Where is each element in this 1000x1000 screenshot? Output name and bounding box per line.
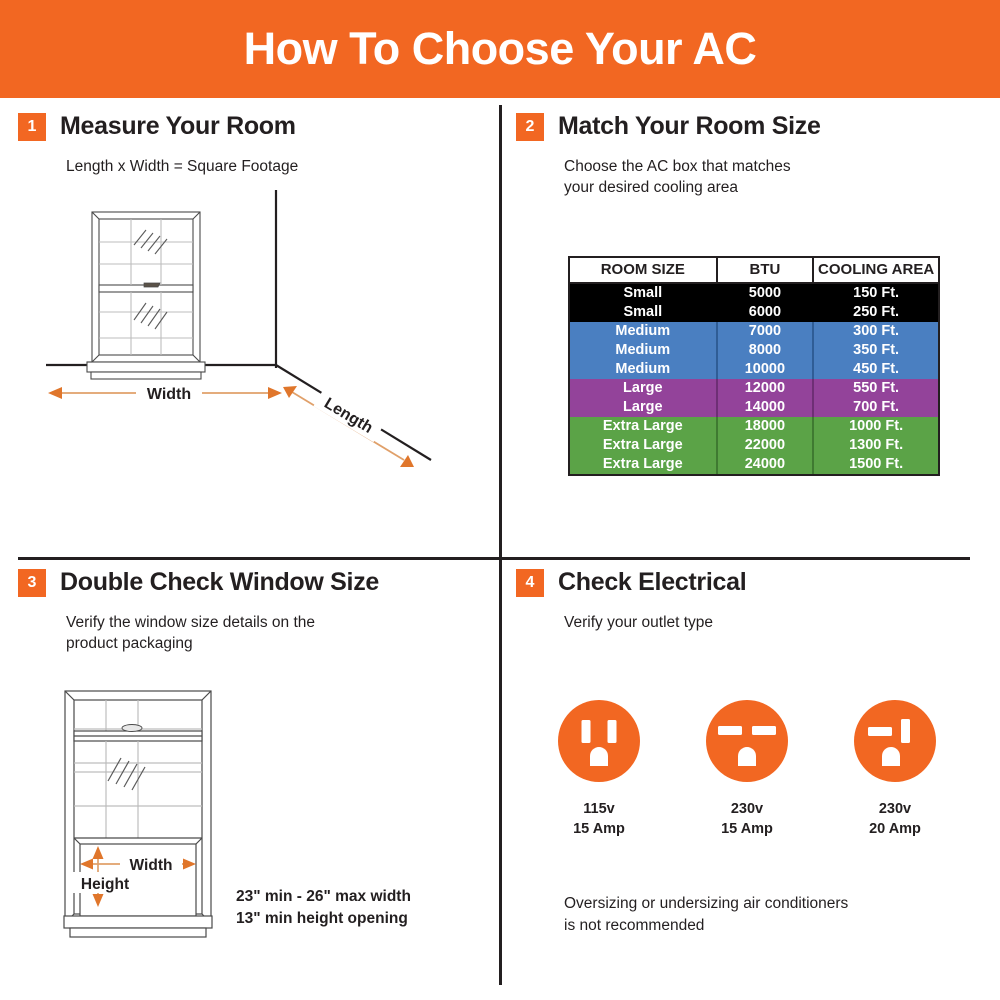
step-title-2: Match Your Room Size <box>558 112 821 141</box>
table-row: Extra Large180001000 Ft. <box>570 417 938 436</box>
window-note-line-1: 23" min - 26" max width <box>236 886 411 908</box>
step-panel-match-your-room-size: 2 Match Your Room Size Choose the AC box… <box>516 112 984 552</box>
step-title-1: Measure Your Room <box>60 112 296 141</box>
width-label-1: Width <box>147 386 191 403</box>
outlet-115v-15amp-icon <box>556 698 642 784</box>
step-3-header: 3 Double Check Window Size <box>18 568 488 597</box>
table-cell-room-size: Medium <box>570 360 717 379</box>
step-number-badge-2: 2 <box>516 113 544 141</box>
outlet-item-230v-20amp: 230v 20 Amp <box>852 698 938 839</box>
window-width-label: Width <box>130 857 173 874</box>
step-panel-double-check-window-size: 3 Double Check Window Size Verify the wi… <box>18 568 488 988</box>
table-row: Small5000150 Ft. <box>570 283 938 303</box>
outlet-label-115v-15amp: 115v 15 Amp <box>573 800 625 839</box>
window-size-note: 23" min - 26" max width 13" min height o… <box>236 886 411 931</box>
table-cell-cooling-area: 350 Ft. <box>813 341 938 360</box>
table-row: Small6000250 Ft. <box>570 303 938 322</box>
step-1-header: 1 Measure Your Room <box>18 112 488 141</box>
window-note-line-2: 13" min height opening <box>236 908 411 930</box>
step-subtitle-3: Verify the window size details on the pr… <box>66 613 488 655</box>
table-body: Small5000150 Ft.Small6000250 Ft.Medium70… <box>570 283 938 474</box>
outlet-type-list: 115v 15 Amp 230v 15 Amp 230v 2 <box>556 698 938 839</box>
step-title-4: Check Electrical <box>558 568 746 597</box>
table-cell-room-size: Medium <box>570 341 717 360</box>
outlet-label-230v-15amp: 230v 15 Amp <box>721 800 773 839</box>
outlet-label-230v-20amp: 230v 20 Amp <box>869 800 921 839</box>
table-row: Medium7000300 Ft. <box>570 322 938 341</box>
ac-sizing-table: ROOM SIZE BTU COOLING AREA Small5000150 … <box>570 258 938 474</box>
window-size-diagram: Width Height <box>58 686 238 948</box>
column-header-room-size: ROOM SIZE <box>570 258 717 283</box>
window-height-label: Height <box>81 876 129 893</box>
table-row: Medium10000450 Ft. <box>570 360 938 379</box>
table-cell-cooling-area: 550 Ft. <box>813 379 938 398</box>
table-cell-cooling-area: 1500 Ft. <box>813 455 938 474</box>
table-cell-btu: 22000 <box>717 436 814 455</box>
step-number-badge-3: 3 <box>18 569 46 597</box>
table-row: Large14000700 Ft. <box>570 398 938 417</box>
outlet-item-230v-15amp: 230v 15 Amp <box>704 698 790 839</box>
infographic-page: How To Choose Your AC 1 Measure Your Roo… <box>0 0 1000 1000</box>
table-cell-btu: 12000 <box>717 379 814 398</box>
table-cell-room-size: Extra Large <box>570 417 717 436</box>
table-cell-btu: 5000 <box>717 283 814 303</box>
page-title: How To Choose Your AC <box>244 23 757 75</box>
step-number-badge-4: 4 <box>516 569 544 597</box>
table-cell-btu: 8000 <box>717 341 814 360</box>
outlet-item-115v-15amp: 115v 15 Amp <box>556 698 642 839</box>
table-cell-btu: 24000 <box>717 455 814 474</box>
table-row: Extra Large220001300 Ft. <box>570 436 938 455</box>
column-header-btu: BTU <box>717 258 814 283</box>
table-cell-cooling-area: 1300 Ft. <box>813 436 938 455</box>
table-cell-room-size: Medium <box>570 322 717 341</box>
table-row: Medium8000350 Ft. <box>570 341 938 360</box>
table-cell-room-size: Small <box>570 303 717 322</box>
room-size-btu-table: ROOM SIZE BTU COOLING AREA Small5000150 … <box>568 256 940 476</box>
table-cell-room-size: Large <box>570 379 717 398</box>
step-panel-measure-your-room: 1 Measure Your Room Length x Width = Squ… <box>18 112 488 552</box>
table-cell-cooling-area: 700 Ft. <box>813 398 938 417</box>
step-subtitle-4: Verify your outlet type <box>564 613 984 634</box>
outlet-230v-20amp-icon <box>852 698 938 784</box>
table-cell-btu: 7000 <box>717 322 814 341</box>
step-title-3: Double Check Window Size <box>60 568 379 597</box>
step-2-header: 2 Match Your Room Size <box>516 112 984 141</box>
table-cell-cooling-area: 150 Ft. <box>813 283 938 303</box>
table-cell-btu: 6000 <box>717 303 814 322</box>
table-cell-cooling-area: 300 Ft. <box>813 322 938 341</box>
step-panel-check-electrical: 4 Check Electrical Verify your outlet ty… <box>516 568 984 988</box>
sizing-warning-text: Oversizing or undersizing air conditione… <box>564 893 848 938</box>
outlet-230v-15amp-icon <box>704 698 790 784</box>
table-cell-btu: 10000 <box>717 360 814 379</box>
room-corner-diagram: Width Length <box>46 190 476 520</box>
column-header-cooling-area: COOLING AREA <box>813 258 938 283</box>
table-cell-cooling-area: 1000 Ft. <box>813 417 938 436</box>
warning-line-1: Oversizing or undersizing air conditione… <box>564 893 848 915</box>
table-row: Extra Large240001500 Ft. <box>570 455 938 474</box>
table-cell-btu: 14000 <box>717 398 814 417</box>
table-cell-room-size: Large <box>570 398 717 417</box>
table-cell-btu: 18000 <box>717 417 814 436</box>
step-subtitle-1: Length x Width = Square Footage <box>66 157 488 178</box>
table-cell-cooling-area: 250 Ft. <box>813 303 938 322</box>
table-cell-room-size: Extra Large <box>570 436 717 455</box>
table-cell-room-size: Small <box>570 283 717 303</box>
vertical-divider <box>499 105 502 985</box>
page-header: How To Choose Your AC <box>0 0 1000 98</box>
table-row: Large12000550 Ft. <box>570 379 938 398</box>
table-header-row: ROOM SIZE BTU COOLING AREA <box>570 258 938 283</box>
horizontal-divider <box>18 557 970 560</box>
step-4-header: 4 Check Electrical <box>516 568 984 597</box>
step-number-badge-1: 1 <box>18 113 46 141</box>
step-subtitle-2: Choose the AC box that matches your desi… <box>564 157 984 199</box>
table-cell-room-size: Extra Large <box>570 455 717 474</box>
table-cell-cooling-area: 450 Ft. <box>813 360 938 379</box>
window-illustration-1 <box>87 212 205 379</box>
warning-line-2: is not recommended <box>564 915 848 937</box>
